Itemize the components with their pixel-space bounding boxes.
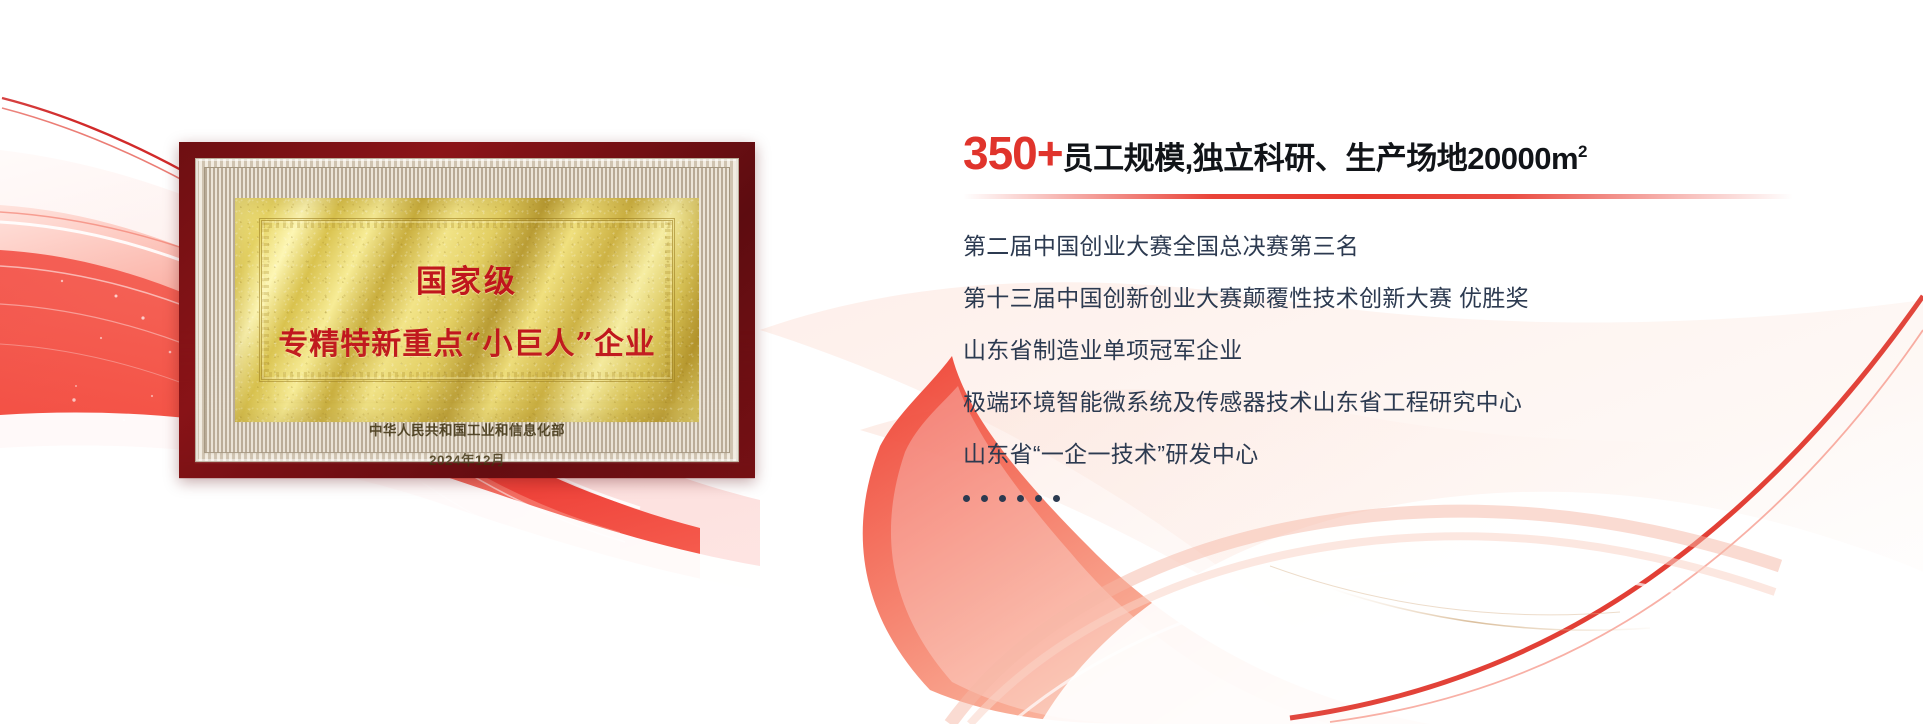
content-column: 350+员工规模,独立科研、生产场地20000m2 第二届中国创业大赛全国总决赛… bbox=[963, 130, 1863, 502]
plaque-date: 2024年12月 bbox=[429, 449, 505, 469]
list-item: 极端环境智能微系统及传感器技术山东省工程研究中心 bbox=[963, 391, 1863, 414]
promo-banner: 国家级 专精特新重点“小巨人”企业 中华人民共和国工业和信息化部 2024年12… bbox=[0, 0, 1923, 724]
plaque-bevel-inner: 国家级 专精特新重点“小巨人”企业 中华人民共和国工业和信息化部 2024年12… bbox=[204, 167, 730, 453]
plaque-title: 国家级 bbox=[416, 256, 518, 301]
list-item: 第二届中国创业大赛全国总决赛第三名 bbox=[963, 235, 1863, 258]
plaque-main-title: 专精特新重点“小巨人”企业 bbox=[278, 319, 656, 363]
ellipsis-dot bbox=[963, 495, 970, 502]
list-item: 山东省“一企一技术”研发中心 bbox=[963, 443, 1863, 466]
plaque-gold-panel: 国家级 专精特新重点“小巨人”企业 中华人民共和国工业和信息化部 2024年12… bbox=[235, 198, 699, 422]
headline-text: 员工规模,独立科研、生产场地20000m bbox=[1063, 143, 1578, 174]
headline-number: 350+ bbox=[963, 130, 1063, 176]
headline: 350+员工规模,独立科研、生产场地20000m2 bbox=[963, 130, 1863, 176]
headline-superscript: 2 bbox=[1578, 142, 1587, 162]
list-item: 山东省制造业单项冠军企业 bbox=[963, 339, 1863, 362]
plaque-text-block: 国家级 专精特新重点“小巨人”企业 中华人民共和国工业和信息化部 2024年12… bbox=[235, 198, 699, 422]
ellipsis-dot bbox=[1035, 495, 1042, 502]
headline-underline bbox=[963, 194, 1793, 199]
ellipsis-dot bbox=[981, 495, 988, 502]
plaque-bevel-outer: 国家级 专精特新重点“小巨人”企业 中华人民共和国工业和信息化部 2024年12… bbox=[195, 158, 739, 462]
list-item: 第十三届中国创新创业大赛颠覆性技术创新大赛 优胜奖 bbox=[963, 287, 1863, 310]
plaque-frame: 国家级 专精特新重点“小巨人”企业 中华人民共和国工业和信息化部 2024年12… bbox=[179, 142, 755, 478]
ellipsis-indicator bbox=[963, 495, 1863, 502]
plaque-issuer: 中华人民共和国工业和信息化部 bbox=[369, 419, 565, 439]
award-plaque: 国家级 专精特新重点“小巨人”企业 中华人民共和国工业和信息化部 2024年12… bbox=[179, 142, 755, 478]
ellipsis-dot bbox=[1053, 495, 1060, 502]
ellipsis-dot bbox=[999, 495, 1006, 502]
honor-list: 第二届中国创业大赛全国总决赛第三名 第十三届中国创新创业大赛颠覆性技术创新大赛 … bbox=[963, 235, 1863, 466]
ellipsis-dot bbox=[1017, 495, 1024, 502]
